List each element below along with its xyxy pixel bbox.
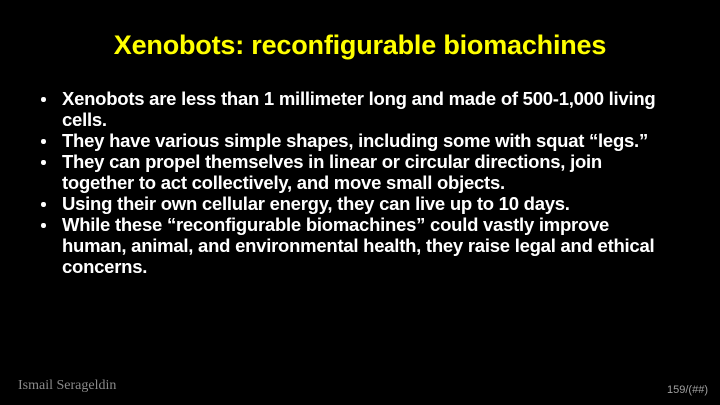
list-item-text: They can propel themselves in linear or … bbox=[62, 151, 602, 193]
list-item-text: They have various simple shapes, includi… bbox=[62, 130, 648, 151]
bullet-list: Xenobots are less than 1 millimeter long… bbox=[36, 88, 668, 277]
footer-author: Ismail Serageldin bbox=[18, 377, 116, 394]
list-item: They have various simple shapes, includi… bbox=[36, 130, 668, 151]
footer-page-number: 159/(##) bbox=[667, 384, 708, 397]
list-item-text: Using their own cellular energy, they ca… bbox=[62, 193, 570, 214]
list-item-text: Xenobots are less than 1 millimeter long… bbox=[62, 88, 655, 130]
list-item: While these “reconfigurable biomachines”… bbox=[36, 214, 668, 277]
list-item: Using their own cellular energy, they ca… bbox=[36, 193, 668, 214]
list-item-text: While these “reconfigurable biomachines”… bbox=[62, 214, 654, 277]
list-item: Xenobots are less than 1 millimeter long… bbox=[36, 88, 668, 130]
presentation-slide: Xenobots: reconfigurable biomachines Xen… bbox=[0, 0, 720, 405]
page-title: Xenobots: reconfigurable biomachines bbox=[0, 29, 720, 61]
list-item: They can propel themselves in linear or … bbox=[36, 151, 668, 193]
